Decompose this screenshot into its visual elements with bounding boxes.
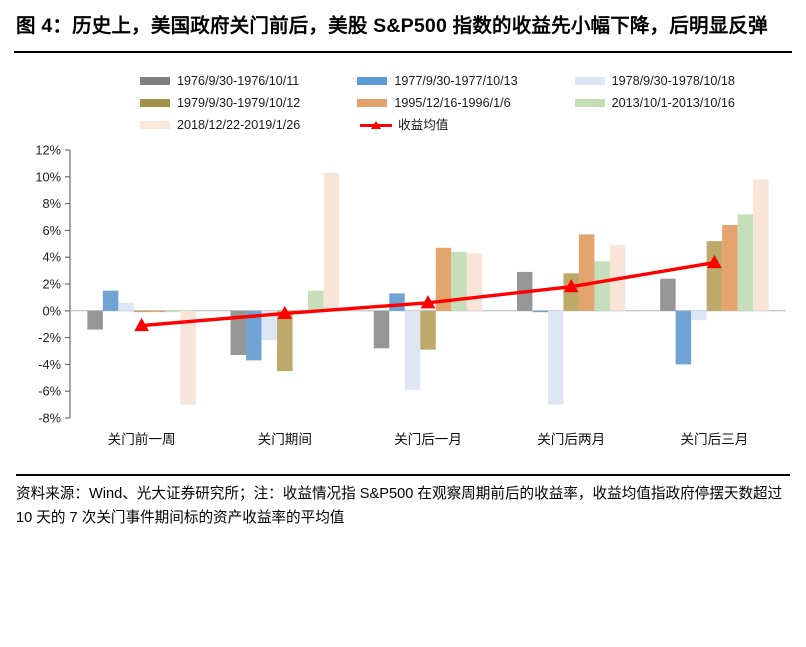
bar xyxy=(180,311,196,405)
title-block: 图 4：历史上，美国政府关门前后，美股 S&P500 指数的收益先小幅下降，后明… xyxy=(14,0,792,53)
legend-item-2018[interactable]: 2018/12/22-2019/1/26 xyxy=(140,119,346,132)
legend-label: 收益均值 xyxy=(398,119,448,132)
bar xyxy=(118,303,134,311)
bar xyxy=(420,311,436,350)
average-line-marker-icon xyxy=(360,119,392,131)
chart-legend: 1976/9/30-1976/10/11 1977/9/30-1977/10/1… xyxy=(14,70,792,136)
y-axis-tick-label: -2% xyxy=(38,330,61,345)
y-axis-tick-label: -4% xyxy=(38,357,61,372)
legend-label: 2013/10/1-2013/10/16 xyxy=(612,97,735,110)
legend-item-average[interactable]: 收益均值 xyxy=(360,119,448,132)
bar xyxy=(165,311,181,312)
legend-swatch-icon xyxy=(140,77,170,85)
chart-plot-area: 12%10%8%6%4%2%0%-2%-4%-6%-8%关门前一周关门期间关门后… xyxy=(14,142,792,460)
bar xyxy=(467,253,483,311)
legend-item-1977[interactable]: 1977/9/30-1977/10/13 xyxy=(357,75,560,88)
bar xyxy=(722,225,738,311)
bar xyxy=(87,311,103,330)
x-axis-tick-label: 关门前一周 xyxy=(108,431,176,447)
y-axis-tick-label: 8% xyxy=(43,196,62,211)
y-axis-tick-label: 0% xyxy=(43,304,62,319)
x-axis-tick-label: 关门后三月 xyxy=(680,432,748,447)
bar xyxy=(389,294,405,311)
legend-row-3: 2018/12/22-2019/1/26 收益均值 xyxy=(140,114,792,136)
legend-label: 1979/9/30-1979/10/12 xyxy=(177,97,300,110)
chart-canvas: 12%10%8%6%4%2%0%-2%-4%-6%-8%关门前一周关门期间关门后… xyxy=(14,142,792,460)
bar xyxy=(594,261,610,311)
bar xyxy=(676,311,692,365)
legend-swatch-icon xyxy=(140,99,170,107)
figure-container: 图 4：历史上，美国政府关门前后，美股 S&P500 指数的收益先小幅下降，后明… xyxy=(0,0,806,647)
bar xyxy=(103,291,119,311)
legend-row-2: 1979/9/30-1979/10/12 1995/12/16-1996/1/6… xyxy=(140,92,792,114)
bar xyxy=(374,311,390,349)
figure-title: 图 4：历史上，美国政府关门前后，美股 S&P500 指数的收益先小幅下降，后明… xyxy=(14,12,792,40)
x-axis-tick-label: 关门期间 xyxy=(258,432,312,447)
legend-item-1976[interactable]: 1976/9/30-1976/10/11 xyxy=(140,75,343,88)
legend-label: 1995/12/16-1996/1/6 xyxy=(394,97,510,110)
bar xyxy=(277,311,293,371)
y-axis-tick-label: 12% xyxy=(35,143,61,158)
y-axis-tick-label: -6% xyxy=(38,384,61,399)
bar xyxy=(707,241,723,311)
legend-swatch-icon xyxy=(357,77,387,85)
y-axis-tick-label: -8% xyxy=(38,411,61,426)
bar xyxy=(691,311,707,320)
bar xyxy=(134,311,150,312)
legend-swatch-icon xyxy=(575,77,605,85)
legend-swatch-icon xyxy=(357,99,387,107)
legend-item-1978[interactable]: 1978/9/30-1978/10/18 xyxy=(575,75,778,88)
bar xyxy=(149,311,165,312)
bar xyxy=(660,279,676,311)
bar xyxy=(324,173,340,311)
bar xyxy=(451,252,467,311)
bar xyxy=(753,180,769,311)
bar xyxy=(308,291,324,311)
title-divider xyxy=(14,51,792,53)
legend-item-2013[interactable]: 2013/10/1-2013/10/16 xyxy=(575,97,778,110)
footnote-text: 资料来源：Wind、光大证券研究所；注：收益情况指 S&P500 在观察周期前后… xyxy=(14,476,792,530)
legend-label: 2018/12/22-2019/1/26 xyxy=(177,119,300,132)
legend-item-1995[interactable]: 1995/12/16-1996/1/6 xyxy=(357,97,560,110)
x-axis-tick-label: 关门后一月 xyxy=(394,432,462,447)
y-axis-tick-label: 10% xyxy=(35,170,61,185)
y-axis-tick-label: 2% xyxy=(43,277,62,292)
bar xyxy=(405,311,421,390)
y-axis-tick-label: 6% xyxy=(43,223,62,238)
legend-label: 1978/9/30-1978/10/18 xyxy=(612,75,735,88)
x-axis-tick-label: 关门后两月 xyxy=(537,432,605,447)
bar xyxy=(738,215,754,311)
legend-swatch-icon xyxy=(140,121,170,129)
legend-label: 1976/9/30-1976/10/11 xyxy=(177,75,299,88)
bar xyxy=(548,311,564,405)
legend-row-1: 1976/9/30-1976/10/11 1977/9/30-1977/10/1… xyxy=(140,70,792,92)
bar xyxy=(579,235,595,311)
legend-item-1979[interactable]: 1979/9/30-1979/10/12 xyxy=(140,97,343,110)
bar xyxy=(532,311,548,312)
legend-label: 1977/9/30-1977/10/13 xyxy=(394,75,517,88)
legend-swatch-icon xyxy=(575,99,605,107)
y-axis-tick-label: 4% xyxy=(43,250,62,265)
